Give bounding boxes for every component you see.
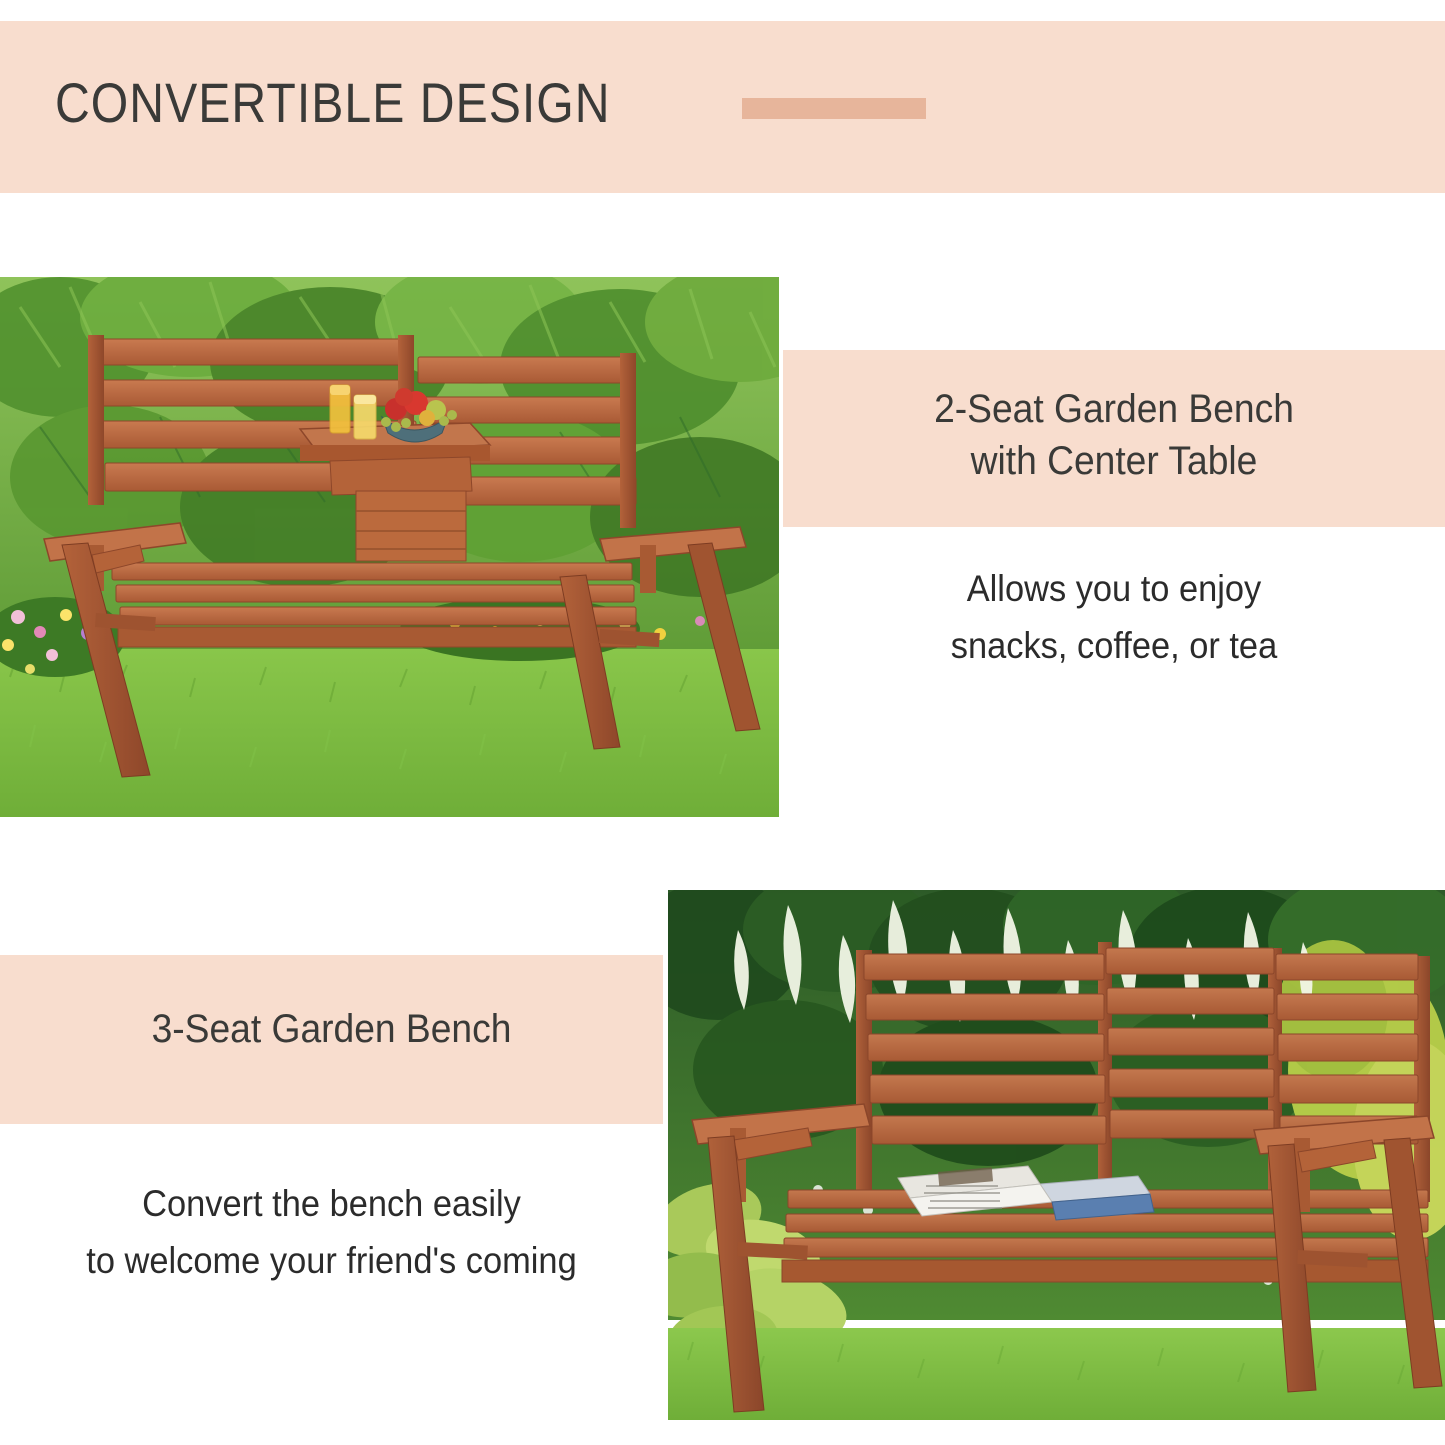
three-seat-bench-photo bbox=[668, 890, 1445, 1420]
page-title: CONVERTIBLE DESIGN bbox=[55, 75, 611, 131]
two-seat-title: 2-Seat Garden Bench with Center Table bbox=[806, 383, 1422, 487]
three-seat-title: 3-Seat Garden Bench bbox=[23, 1003, 640, 1055]
header-accent-bar bbox=[742, 98, 926, 119]
infographic-root: CONVERTIBLE DESIGN bbox=[0, 0, 1445, 1445]
two-seat-description: Allows you to enjoy snacks, coffee, or t… bbox=[806, 560, 1422, 675]
two-seat-title-line-1: 2-Seat Garden Bench bbox=[806, 383, 1422, 435]
two-seat-description-line-2: snacks, coffee, or tea bbox=[806, 617, 1422, 674]
three-seat-bench-illustration bbox=[668, 890, 1445, 1420]
two-seat-title-band: 2-Seat Garden Bench with Center Table bbox=[783, 350, 1445, 527]
three-seat-title-band: 3-Seat Garden Bench bbox=[0, 955, 663, 1124]
two-seat-bench-illustration bbox=[0, 277, 779, 817]
two-seat-bench-photo bbox=[0, 277, 779, 817]
three-seat-title-line-1: 3-Seat Garden Bench bbox=[23, 1003, 640, 1055]
three-seat-description: Convert the bench easily to welcome your… bbox=[23, 1175, 640, 1290]
two-seat-title-line-2: with Center Table bbox=[806, 435, 1422, 487]
three-seat-description-line-1: Convert the bench easily bbox=[23, 1175, 640, 1232]
two-seat-description-line-1: Allows you to enjoy bbox=[806, 560, 1422, 617]
three-seat-description-line-2: to welcome your friend's coming bbox=[23, 1232, 640, 1289]
